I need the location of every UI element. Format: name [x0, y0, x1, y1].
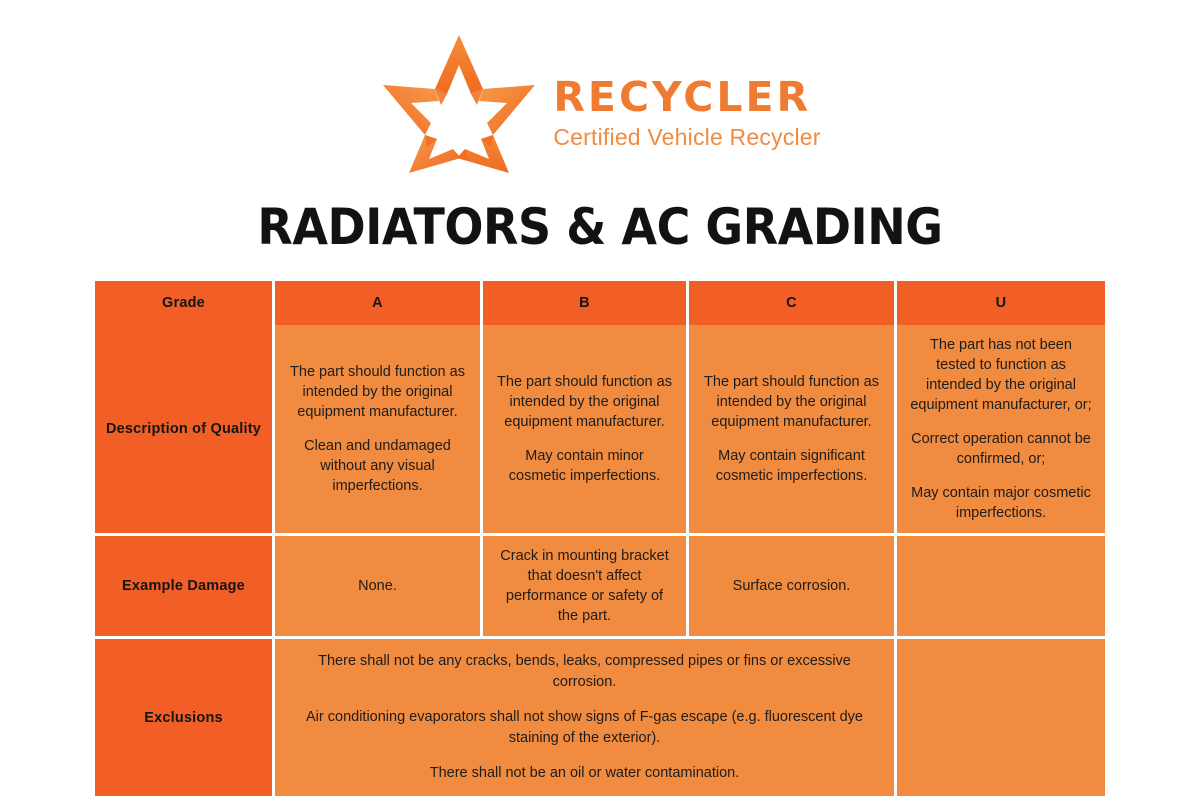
cell-exclusions-u: [897, 639, 1105, 796]
cell-exclusions-merged: There shall not be any cracks, bends, le…: [275, 639, 897, 796]
column-header-b: B: [483, 281, 689, 325]
cell-example-damage-c: Surface corrosion.: [689, 536, 897, 639]
row-label-description-of-quality: Description of Quality: [95, 325, 275, 536]
cell-description-b: The part should function as intended by …: [483, 325, 689, 536]
brand-name: RECYCLER: [553, 77, 820, 119]
cell-description-c: The part should function as intended by …: [689, 325, 897, 536]
column-header-u: U: [897, 281, 1105, 325]
cell-description-u: The part has not been tested to function…: [897, 325, 1105, 536]
grading-sheet-page: RECYCLER Certified Vehicle Recycler RADI…: [0, 0, 1200, 800]
column-header-a: A: [275, 281, 483, 325]
table-row-exclusions: Exclusions There shall not be any cracks…: [95, 639, 1105, 796]
recycle-star-icon: [379, 31, 539, 176]
column-header-c: C: [689, 281, 897, 325]
cell-example-damage-u: [897, 536, 1105, 639]
row-label-example-damage: Example Damage: [95, 536, 275, 639]
table-row-example-damage: Example Damage None. Crack in mounting b…: [95, 536, 1105, 639]
column-header-grade: Grade: [95, 281, 275, 325]
table-row-description-of-quality: Description of Quality The part should f…: [95, 325, 1105, 536]
table-header-row: Grade A B C U: [95, 281, 1105, 325]
page-title: RADIATORS & AC GRADING: [48, 198, 1152, 256]
brand-tagline: Certified Vehicle Recycler: [553, 125, 820, 150]
brand-logo: RECYCLER Certified Vehicle Recycler: [0, 28, 1200, 178]
cell-example-damage-a: None.: [275, 536, 483, 639]
cell-example-damage-b: Crack in mounting bracket that doesn't a…: [483, 536, 689, 639]
grading-table: Grade A B C U Description of Quality The…: [95, 281, 1105, 796]
cell-description-a: The part should function as intended by …: [275, 325, 483, 536]
row-label-exclusions: Exclusions: [95, 639, 275, 796]
